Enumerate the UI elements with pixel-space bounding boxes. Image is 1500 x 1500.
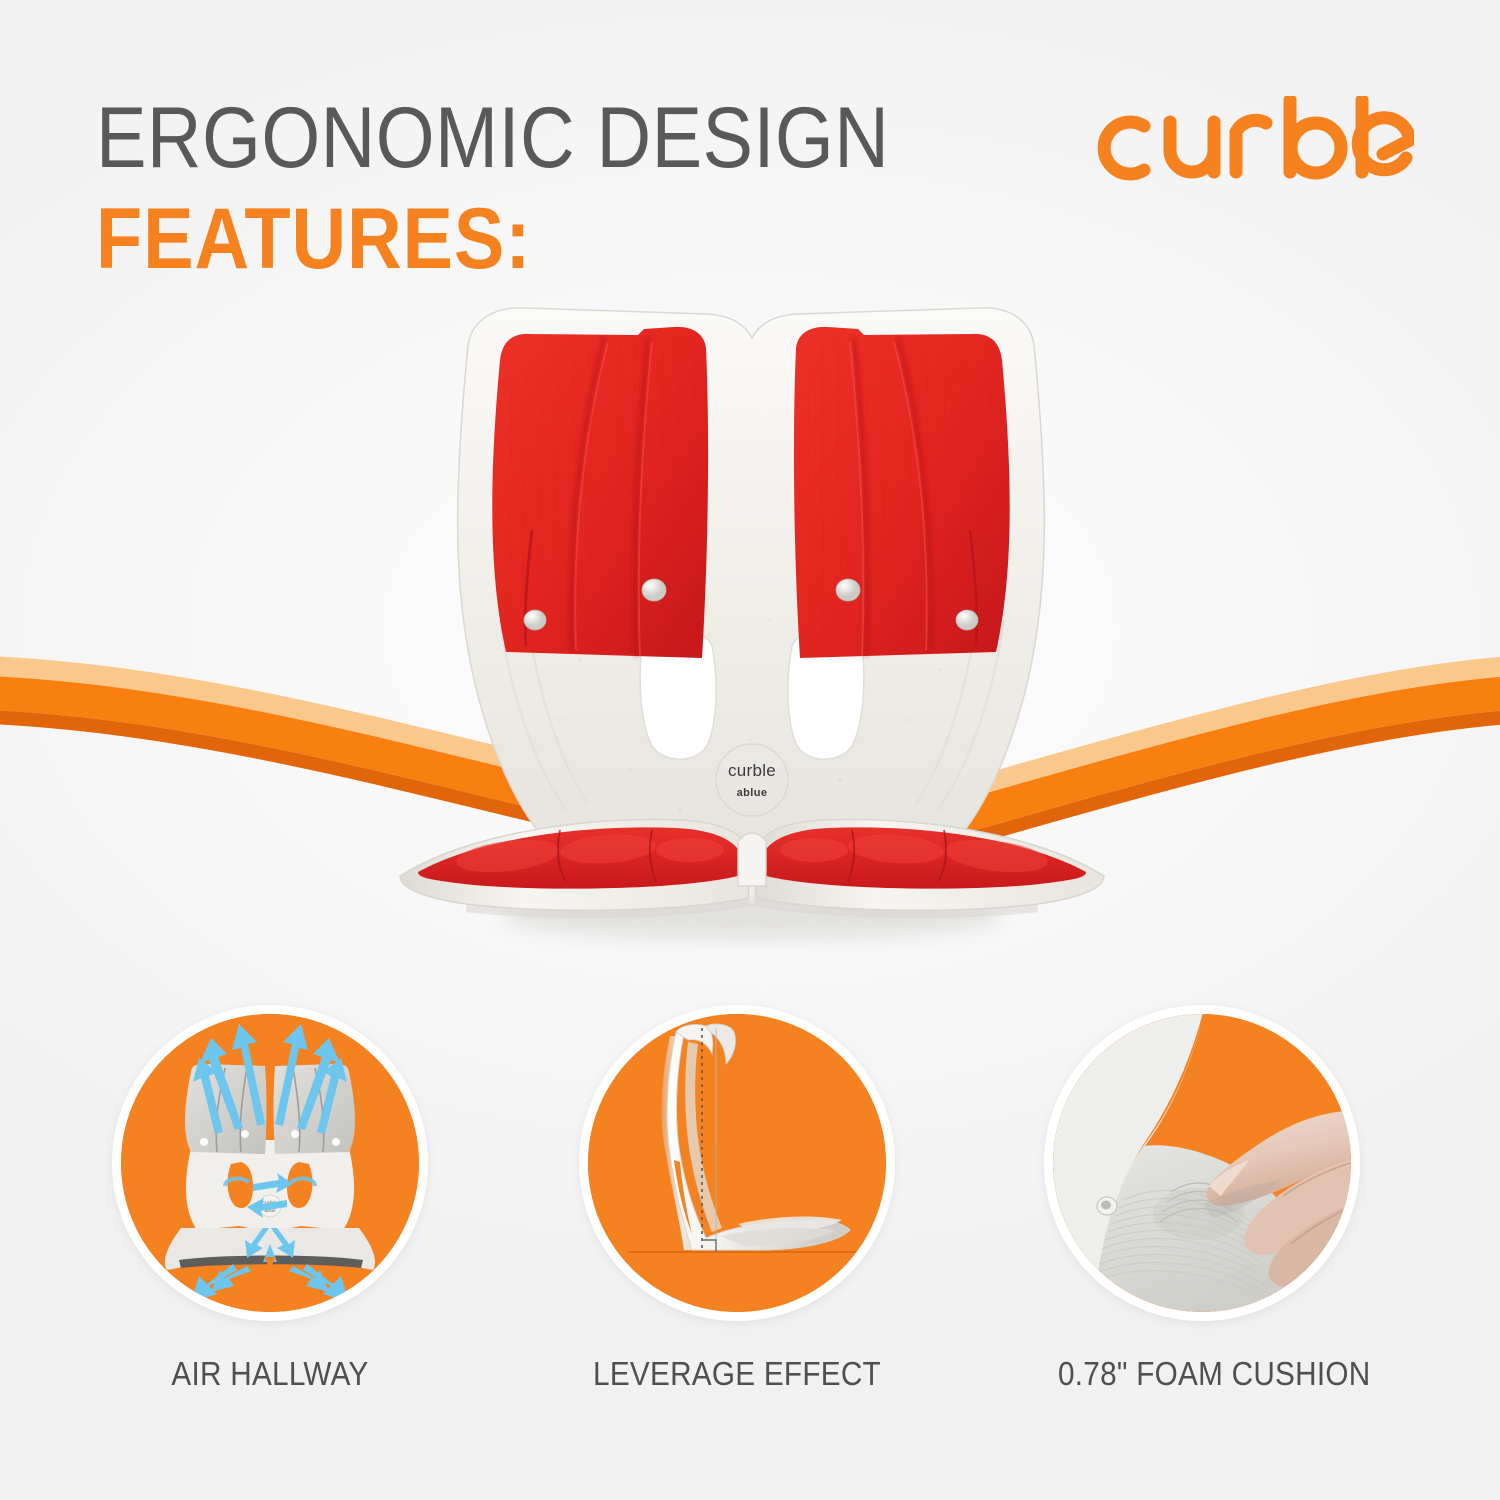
- feature-label-leverage-effect: LEVERAGE EFFECT: [593, 1355, 881, 1393]
- feature-label-foam-cushion: 0.78" FOAM CUSHION: [1058, 1355, 1346, 1393]
- hand-pressing-foam-icon: [1053, 1014, 1351, 1312]
- hero-product-image: curble ablue: [380, 290, 1120, 950]
- headline-line-1: ERGONOMIC DESIGN: [96, 96, 888, 180]
- svg-text:curble: curble: [728, 761, 776, 780]
- curble-logo: [1084, 96, 1414, 188]
- backrest-pad-left: [492, 327, 708, 658]
- svg-text:ablue: ablue: [737, 787, 768, 799]
- feature-circle-3[interactable]: [1044, 1005, 1360, 1321]
- side-profile-leverage-icon: [588, 1014, 886, 1312]
- seat-cushion-left: [418, 827, 742, 888]
- backrest-pad-right: [794, 327, 1010, 658]
- feature-circle-2[interactable]: [579, 1005, 895, 1321]
- airflow-diagram-icon: curble ablue: [121, 1014, 419, 1312]
- page-title: ERGONOMIC DESIGN FEATURES:: [96, 96, 996, 282]
- feature-item-foam-cushion[interactable]: 0.78" FOAM CUSHION: [1042, 1005, 1362, 1393]
- feature-list: curble ablue: [0, 1005, 1500, 1465]
- feature-item-leverage-effect[interactable]: LEVERAGE EFFECT: [577, 1005, 897, 1393]
- seat-cushion-right: [762, 827, 1086, 888]
- product-feature-graphic: ERGONOMIC DESIGN FEATURES:: [0, 0, 1500, 1500]
- headline-line-2: FEATURES:: [96, 196, 888, 282]
- feature-item-air-hallway[interactable]: curble ablue: [110, 1005, 430, 1393]
- feature-label-air-hallway: AIR HALLWAY: [126, 1355, 414, 1393]
- feature-circle-1[interactable]: curble ablue: [112, 1005, 428, 1321]
